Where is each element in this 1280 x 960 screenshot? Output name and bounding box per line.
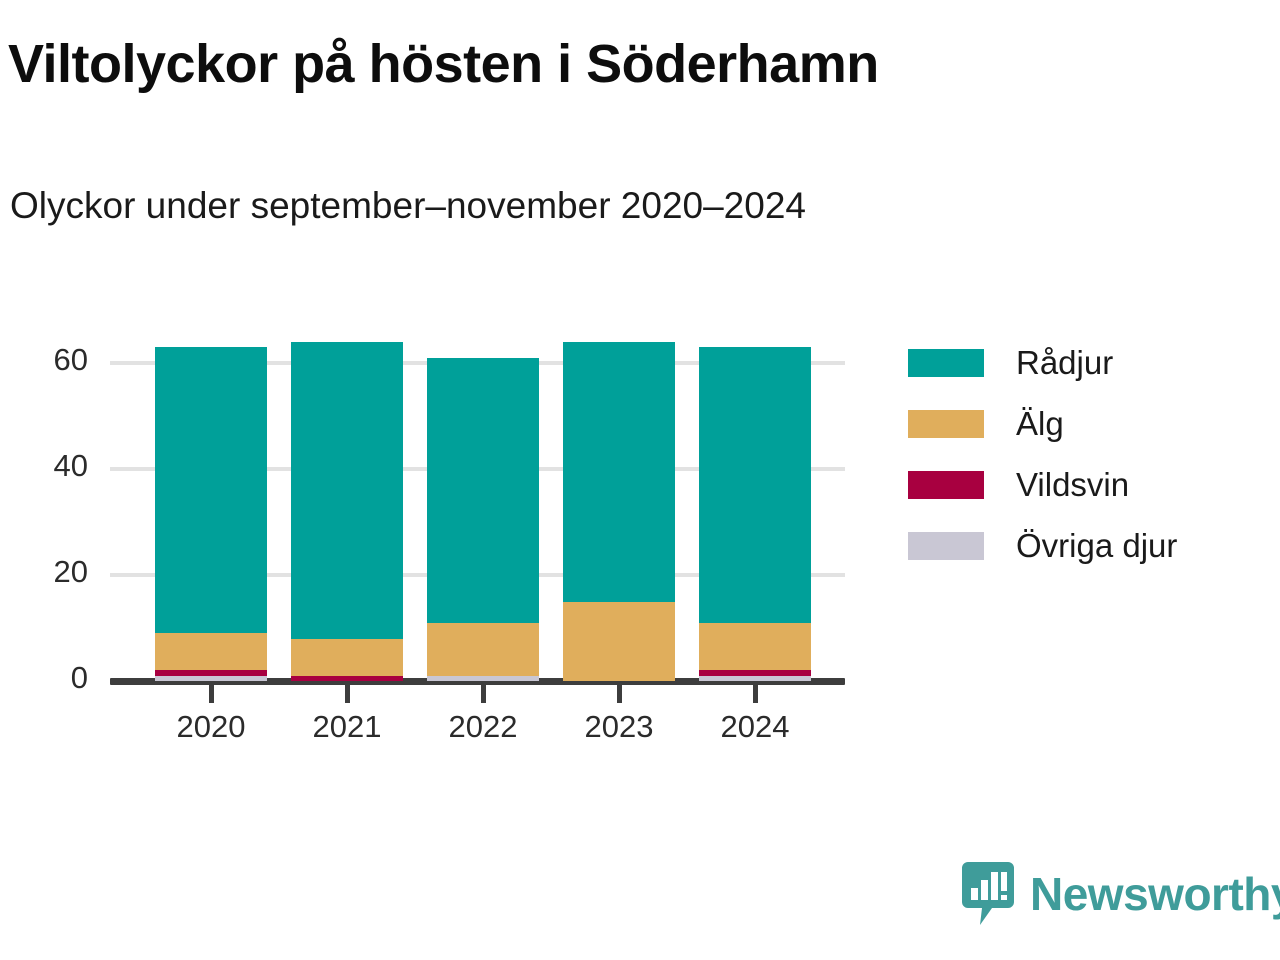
y-axis-tick-label: 40	[8, 448, 88, 484]
legend-swatch-radjur	[908, 349, 984, 377]
legend-label-alg: Älg	[1016, 405, 1064, 443]
bar-2022[interactable]	[427, 358, 539, 681]
bar-2024[interactable]	[699, 347, 811, 681]
bar-segment-2023-älg[interactable]	[563, 602, 675, 682]
bar-segment-2021-älg[interactable]	[291, 639, 403, 676]
bar-segment-2024-rådjur[interactable]	[699, 347, 811, 623]
legend-swatch-vildsvin	[908, 471, 984, 499]
bar-2020[interactable]	[155, 347, 267, 681]
bar-segment-2020-älg[interactable]	[155, 633, 267, 670]
x-axis-tick-mark	[209, 681, 214, 703]
x-axis-tick-label-2023: 2023	[549, 709, 689, 745]
bar-2021[interactable]	[291, 342, 403, 681]
x-axis-tick-label-2021: 2021	[277, 709, 417, 745]
y-axis-tick-label: 60	[8, 342, 88, 378]
bar-segment-2024-älg[interactable]	[699, 623, 811, 671]
legend-swatch-alg	[908, 410, 984, 438]
x-axis-tick-mark	[481, 681, 486, 703]
x-axis-tick-mark	[753, 681, 758, 703]
bar-segment-2022-rådjur[interactable]	[427, 358, 539, 623]
newsworthy-wordmark: Newsworthy	[1030, 871, 1280, 917]
x-axis-tick-label-2022: 2022	[413, 709, 553, 745]
legend-item-vildsvin[interactable]: Vildsvin	[908, 454, 1177, 515]
x-axis-tick-mark	[345, 681, 350, 703]
x-axis-tick-mark	[617, 681, 622, 703]
y-axis-tick-label: 20	[8, 554, 88, 590]
bar-2023[interactable]	[563, 342, 675, 681]
legend-swatch-ovriga-djur	[908, 532, 984, 560]
bar-segment-2021-rådjur[interactable]	[291, 342, 403, 639]
y-axis-tick-label: 0	[8, 660, 88, 696]
newsworthy-logo[interactable]: Newsworthy	[962, 862, 1280, 926]
bar-segment-2020-rådjur[interactable]	[155, 347, 267, 633]
x-axis-tick-label-2020: 2020	[141, 709, 281, 745]
bar-chart-speech-bubble-icon	[962, 862, 1014, 926]
legend-item-alg[interactable]: Älg	[908, 393, 1177, 454]
legend-label-ovriga-djur: Övriga djur	[1016, 527, 1177, 565]
chart-legend: Rådjur Älg Vildsvin Övriga djur	[908, 332, 1177, 576]
legend-item-radjur[interactable]: Rådjur	[908, 332, 1177, 393]
legend-label-vildsvin: Vildsvin	[1016, 466, 1129, 504]
bar-segment-2024-vildsvin[interactable]	[699, 670, 811, 675]
legend-label-radjur: Rådjur	[1016, 344, 1113, 382]
bar-segment-2020-vildsvin[interactable]	[155, 670, 267, 675]
x-axis-tick-label-2024: 2024	[685, 709, 825, 745]
bar-segment-2023-rådjur[interactable]	[563, 342, 675, 602]
legend-item-ovriga-djur[interactable]: Övriga djur	[908, 515, 1177, 576]
bar-segment-2022-älg[interactable]	[427, 623, 539, 676]
chart-container: Viltolyckor på hösten i Söderhamn Olycko…	[0, 0, 1280, 960]
